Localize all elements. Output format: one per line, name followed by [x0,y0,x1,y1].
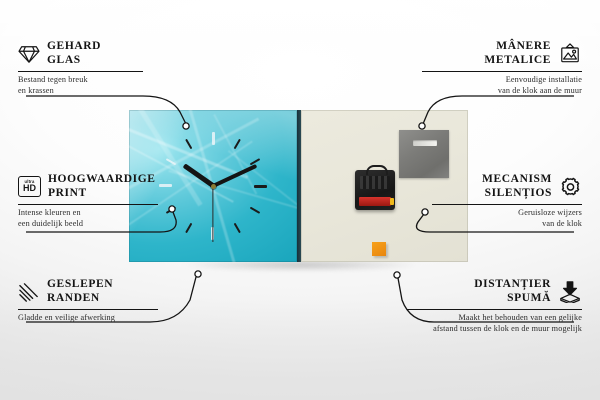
callout-subtitle: Eenvoudige installatie van de klok aan d… [422,75,582,96]
clock-center-pin [211,184,216,189]
callout-header: GEHARD GLAS [18,40,158,67]
callout-title-line2: METALICE [422,54,551,68]
callout-title-line1: DISTANȚIER [474,278,551,290]
callout-header: MÂNERE METALICE [422,40,582,67]
callout-rule [18,71,143,72]
callout-title: GESLEPEN RANDEN [47,278,113,305]
callout-title: HOOGWAARDIGE PRINT [48,173,156,200]
gear-icon [559,176,582,198]
callout-title-line2: RANDEN [47,292,113,306]
ultra-hd-icon: ultra HD [18,176,41,197]
callout-rule [422,71,582,72]
callout-manere-metalice: MÂNERE METALICE Eenvoudige installatie v… [422,40,582,96]
callout-title-line2: SILENȚIOS [432,187,552,201]
callout-title: DISTANȚIER SPUMĂ [407,278,551,305]
infographic-canvas: GEHARD GLAS Bestand tegen breuk en krass… [0,0,600,400]
clock-mechanism-box [355,170,395,210]
callout-subtitle-line1: Geruisloze wijzers [432,208,582,219]
callout-gehard-glas: GEHARD GLAS Bestand tegen breuk en krass… [18,40,158,96]
mechanism-loop [366,165,388,175]
callout-subtitle-line1: Maakt het behouden van een gelijke [407,313,582,324]
callout-title-line1: MÂNERE [496,40,551,52]
callout-title-line2: GLAS [47,54,101,68]
callout-subtitle: Intense kleuren en een duidelijk beeld [18,208,168,229]
foam-spacer [372,242,386,256]
callout-title: MECANISM SILENȚIOS [432,173,552,200]
callout-subtitle-line2: van de klok aan de muur [422,86,582,97]
mechanism-vents [360,176,390,189]
callout-rule [432,204,582,205]
callout-rule [407,309,582,310]
callout-hoogwaardige-print: ultra HD HOOGWAARDIGE PRINT Intense kleu… [18,173,168,229]
callout-title-line2: SPUMĂ [407,292,551,306]
clock-tick [213,185,267,187]
product-image [129,110,468,268]
ground-edges-icon [18,282,40,302]
callout-subtitle-line1: Bestand tegen breuk [18,75,158,86]
hanger-slot [413,140,437,146]
ultra-hd-large-text: HD [23,184,36,193]
callout-title-line1: HOOGWAARDIGE [48,173,156,185]
metal-hanger-plate [399,130,449,178]
callout-header: GESLEPEN RANDEN [18,278,168,305]
callout-rule [18,204,158,205]
callout-subtitle-line1: Gladde en veilige afwerking [18,313,168,324]
battery [359,197,391,206]
callout-header: MECANISM SILENȚIOS [432,173,582,200]
callout-title-line1: MECANISM [482,173,552,185]
callout-title: GEHARD GLAS [47,40,101,67]
callout-distantier-spuma: DISTANȚIER SPUMĂ Maakt het behouden van … [407,278,582,334]
callout-subtitle-line1: Intense kleuren en [18,208,168,219]
callout-mecanism-silentios: MECANISM SILENȚIOS Geruisloze wijzers va… [432,173,582,229]
callout-subtitle: Bestand tegen breuk en krassen [18,75,158,96]
callout-rule [18,309,158,310]
diamond-icon [18,44,40,64]
callout-subtitle-line2: een duidelijk beeld [18,219,168,230]
product-shadow [133,260,469,276]
clock-tick [212,132,214,186]
callout-subtitle: Geruisloze wijzers van de klok [432,208,582,229]
callout-title-line1: GEHARD [47,40,101,52]
callout-geslepen-randen: GESLEPEN RANDEN Gladde en veilige afwerk… [18,278,168,324]
callout-title-line1: GESLEPEN [47,278,113,290]
callout-title-line2: PRINT [48,187,156,201]
picture-hook-icon [558,43,582,64]
callout-subtitle: Maakt het behouden van een gelijke afsta… [407,313,582,334]
callout-header: DISTANȚIER SPUMĂ [407,278,582,305]
callout-subtitle-line1: Eenvoudige installatie [422,75,582,86]
callout-subtitle-line2: en krassen [18,86,158,97]
callout-subtitle-line2: afstand tussen de klok en de muur mogeli… [407,324,582,335]
callout-header: ultra HD HOOGWAARDIGE PRINT [18,173,168,200]
callout-title: MÂNERE METALICE [422,40,551,67]
spacer-arrow-icon [558,281,582,303]
callout-subtitle-line2: van de klok [432,219,582,230]
callout-subtitle: Gladde en veilige afwerking [18,313,168,324]
